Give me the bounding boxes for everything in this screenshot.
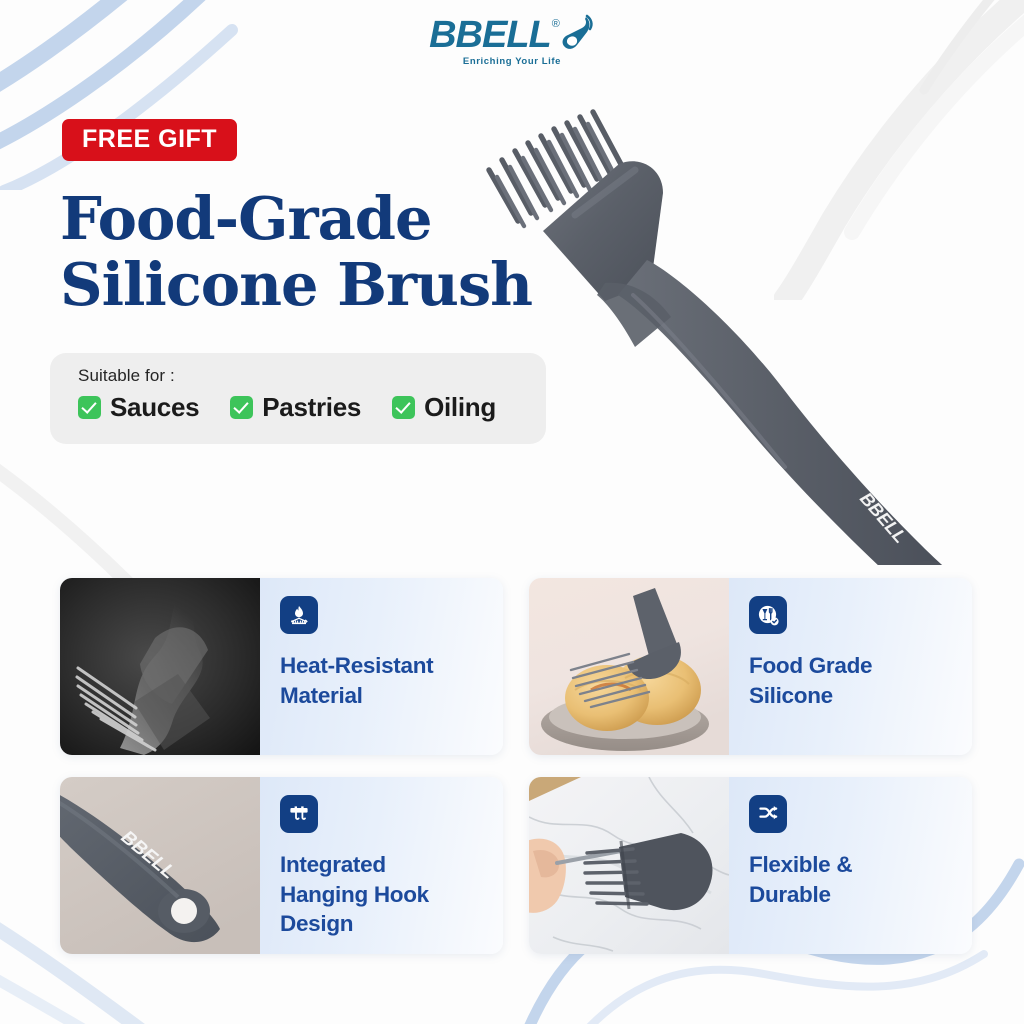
- feature-title: Flexible & Durable: [749, 850, 956, 909]
- silicone-brush-illustration: BBELL: [455, 95, 1000, 565]
- hero-product-image: BBELL: [455, 95, 1000, 565]
- feature-title: Food Grade Silicone: [749, 651, 956, 710]
- feature-cards: Heat-Resistant Material: [60, 578, 972, 954]
- check-icon: [78, 396, 101, 419]
- product-marketing-page: BBELL ® Enriching Your Life FREE GIFT Fo…: [0, 0, 1024, 1024]
- feature-card-body: Integrated Hanging Hook Design: [260, 777, 503, 954]
- hand-flexing-brush-photo: [529, 777, 729, 954]
- brush-basting-pastry-photo: [529, 578, 729, 755]
- feature-card-flexible-durable[interactable]: Flexible & Durable: [529, 777, 972, 954]
- brush-handle-hook-photo: BBELL: [60, 777, 260, 954]
- headline-line-1: Food-Grade: [60, 184, 432, 253]
- logo-tagline: Enriching Your Life: [463, 56, 561, 67]
- hook-rail-icon: [280, 795, 318, 833]
- feature-card-food-grade[interactable]: Food Grade Silicone: [529, 578, 972, 755]
- suitable-item-label: Pastries: [262, 392, 361, 423]
- list-item: Sauces: [78, 392, 199, 423]
- brush-mark-icon: [561, 14, 595, 54]
- feature-card-heat-resistant[interactable]: Heat-Resistant Material: [60, 578, 503, 755]
- food-safe-glass-fork-icon: [749, 596, 787, 634]
- list-item: Pastries: [230, 392, 361, 423]
- logo-wordmark: BBELL: [429, 16, 551, 54]
- brand-logo: BBELL ® Enriching Your Life: [0, 16, 1024, 67]
- feature-card-hanging-hook[interactable]: BBELL Integrated Hanging Hook Design: [60, 777, 503, 954]
- check-icon: [230, 396, 253, 419]
- brush-with-smoke-photo: [60, 578, 260, 755]
- feature-card-body: Food Grade Silicone: [729, 578, 972, 755]
- flame-grill-icon: [280, 596, 318, 634]
- check-icon: [392, 396, 415, 419]
- registered-mark: ®: [552, 18, 560, 30]
- suitable-item-label: Sauces: [110, 392, 199, 423]
- shuffle-arrows-icon: [749, 795, 787, 833]
- swoosh-mid-left-icon: [0, 430, 160, 600]
- feature-card-body: Flexible & Durable: [729, 777, 972, 954]
- feature-title: Heat-Resistant Material: [280, 651, 487, 710]
- free-gift-badge: FREE GIFT: [62, 119, 237, 161]
- feature-card-body: Heat-Resistant Material: [260, 578, 503, 755]
- feature-title: Integrated Hanging Hook Design: [280, 850, 487, 939]
